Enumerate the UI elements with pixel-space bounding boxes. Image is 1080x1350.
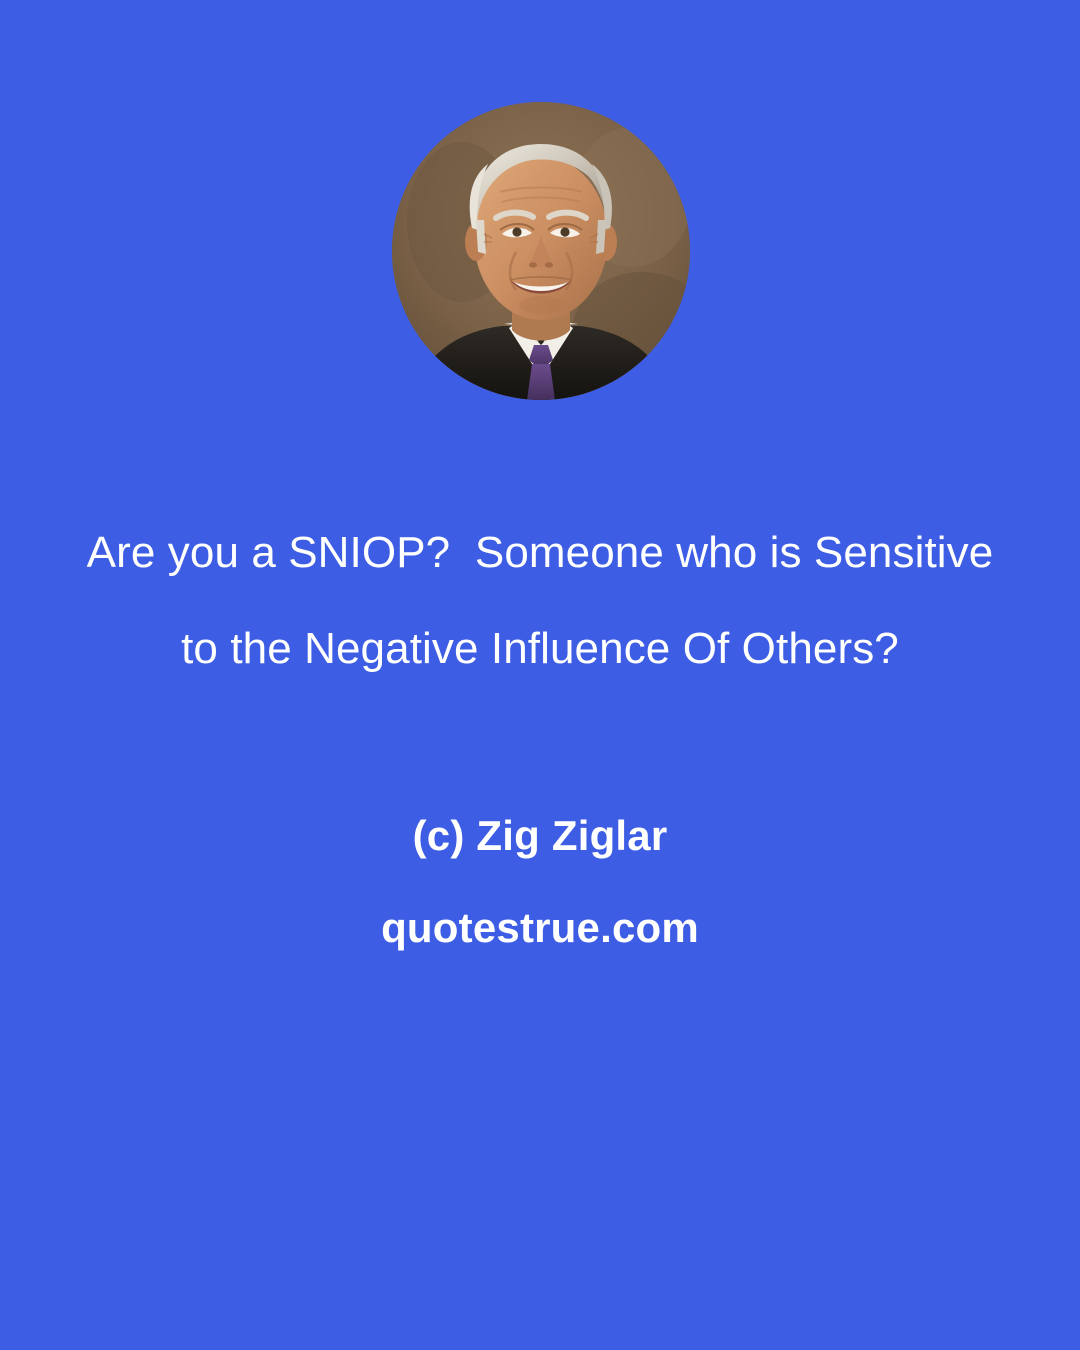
quote-line-2: to the Negative Influence Of Others? [0, 601, 1080, 697]
quote-line-1: Are you a SNIOP? Someone who is Sensitiv… [0, 505, 1080, 601]
zig-ziglar-portrait-image [392, 102, 690, 400]
avatar [392, 102, 690, 400]
site-watermark: quotestrue.com [0, 904, 1080, 952]
quote-attribution: (c) Zig Ziglar [0, 812, 1080, 860]
quote-text: Are you a SNIOP? Someone who is Sensitiv… [0, 505, 1080, 697]
quote-card: Are you a SNIOP? Someone who is Sensitiv… [0, 0, 1080, 1350]
